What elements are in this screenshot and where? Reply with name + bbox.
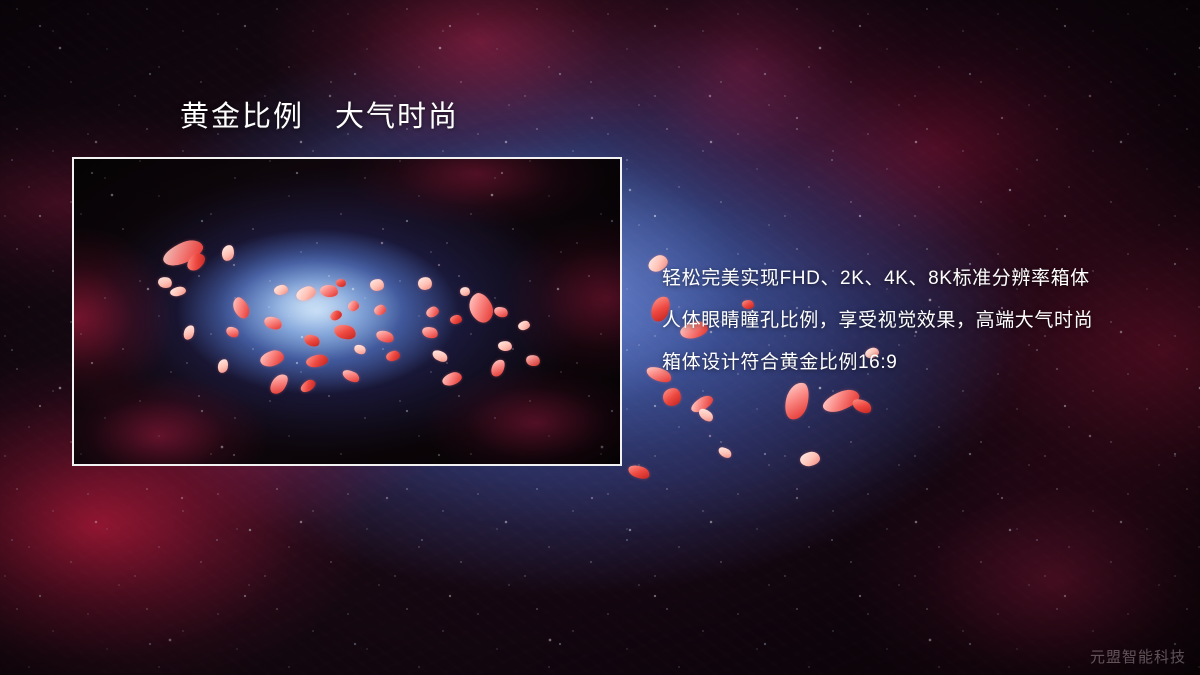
galaxy-petals-image-frame [72, 157, 622, 466]
panel-vignette [74, 159, 620, 464]
body-copy-block: 轻松完美实现FHD、2K、4K、8K标准分辨率箱体 人体眼睛瞳孔比例，享受视觉效… [662, 258, 1162, 384]
petal-shape [782, 380, 813, 422]
petal-shape [627, 463, 652, 482]
petal-shape [850, 396, 873, 416]
petal-shape [717, 445, 734, 460]
page-title: 黄金比例 大气时尚 [180, 102, 459, 134]
slide-root: 黄金比例 大气时尚 轻松完美实现FHD、2K、4K、8K标准分辨率箱体 人体眼睛… [0, 0, 1200, 675]
petal-shape [799, 451, 821, 468]
petal-shape [697, 406, 716, 424]
galaxy-petals-image [74, 159, 620, 464]
body-line-2: 人体眼睛瞳孔比例，享受视觉效果，高端大气时尚 [662, 300, 1162, 342]
body-line-3: 箱体设计符合黄金比例16:9 [662, 342, 1162, 384]
watermark: 元盟智能科技 [1090, 646, 1186, 667]
petal-shape [662, 387, 682, 407]
body-line-1: 轻松完美实现FHD、2K、4K、8K标准分辨率箱体 [662, 258, 1162, 300]
